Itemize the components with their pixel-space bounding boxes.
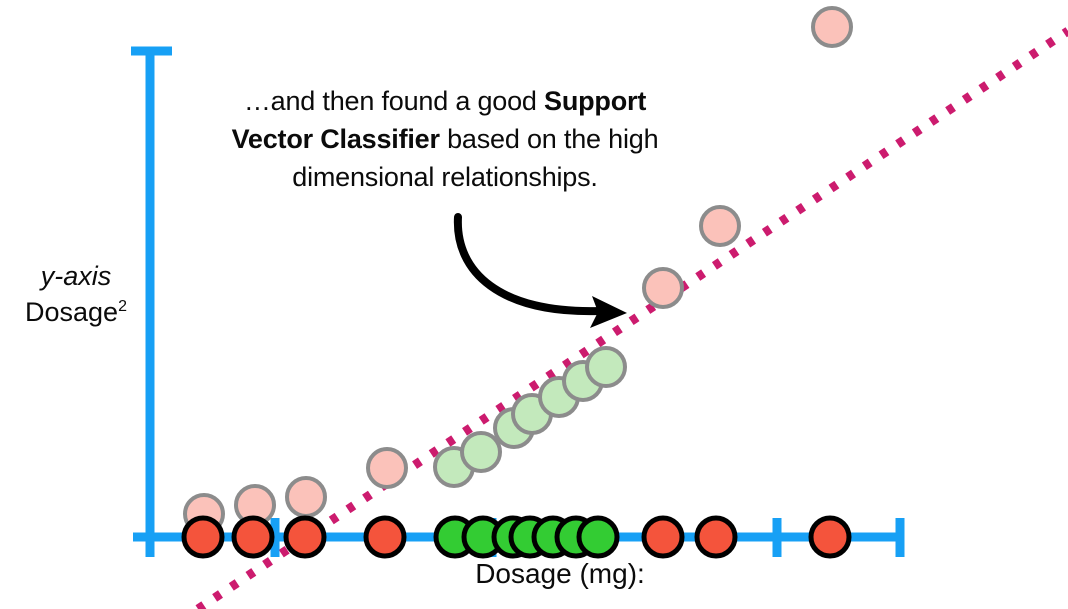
annotation-caption: …and then found a good Support Vector Cl… bbox=[185, 82, 705, 196]
red-axis-point bbox=[366, 518, 404, 556]
faded-pink-point bbox=[644, 269, 682, 307]
figure-canvas: …and then found a good Support Vector Cl… bbox=[0, 0, 1068, 609]
annotation-line1-bold: Support bbox=[544, 86, 646, 116]
y-axis-label-line2: Dosage bbox=[25, 297, 118, 327]
red-axis-point bbox=[811, 518, 849, 556]
red-axis-point bbox=[697, 518, 735, 556]
red-axis-point bbox=[234, 518, 272, 556]
x-axis-label: Dosage (mg): bbox=[380, 558, 740, 590]
faded-pink-point bbox=[813, 8, 851, 46]
annotation-line3: dimensional relationships. bbox=[292, 162, 597, 192]
y-axis-label: y-axis Dosage2 bbox=[12, 258, 140, 330]
faded-green-point bbox=[587, 348, 625, 386]
curved-pointer-arrow bbox=[458, 217, 627, 328]
red-axis-point bbox=[286, 518, 324, 556]
y-axis-label-exponent: 2 bbox=[118, 298, 127, 315]
red-axis-point bbox=[644, 518, 682, 556]
faded-pink-point bbox=[701, 207, 739, 245]
green-axis-point bbox=[579, 518, 617, 556]
faded-green-point bbox=[462, 433, 500, 471]
faded-pink-point bbox=[368, 449, 406, 487]
faded-pink-point bbox=[287, 478, 325, 516]
faded-green-point-group bbox=[435, 348, 625, 486]
annotation-line1-pre: …and then found a good bbox=[244, 86, 544, 116]
red-axis-point bbox=[184, 518, 222, 556]
y-axis-label-line1: y-axis bbox=[41, 261, 112, 291]
annotation-line2-post: based on the high bbox=[440, 124, 659, 154]
annotation-line2-bold: Vector Classifier bbox=[232, 124, 440, 154]
